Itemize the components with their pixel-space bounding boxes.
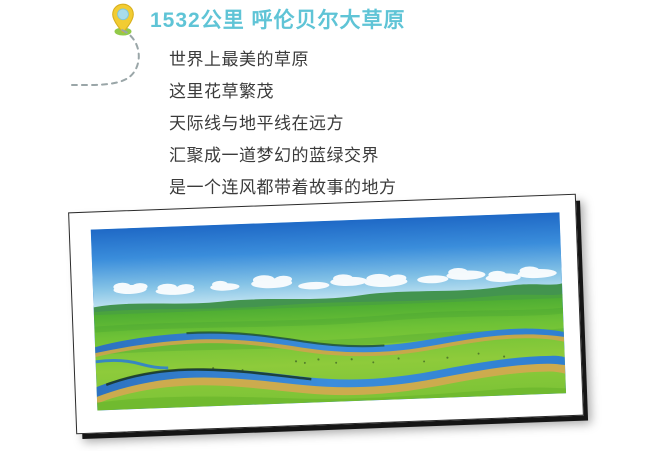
location-pin-icon [108,2,138,36]
poem-block: 世界上最美的草原 这里花草繁茂 天际线与地平线在远方 汇聚成一道梦幻的蓝绿交界 … [169,44,397,204]
poem-line: 是一个连风都带着故事的地方 [169,172,397,204]
photo-frame [68,194,584,434]
poem-line: 这里花草繁茂 [169,76,397,108]
header: 1532公里 呼伦贝尔大草原 [108,2,406,36]
poem-line: 天际线与地平线在远方 [169,108,397,140]
poem-line: 世界上最美的草原 [169,44,397,76]
poem-line: 汇聚成一道梦幻的蓝绿交界 [169,140,397,172]
grassland-photo-image [91,212,566,410]
grassland-photo [91,212,566,410]
page-title: 1532公里 呼伦贝尔大草原 [150,8,406,31]
